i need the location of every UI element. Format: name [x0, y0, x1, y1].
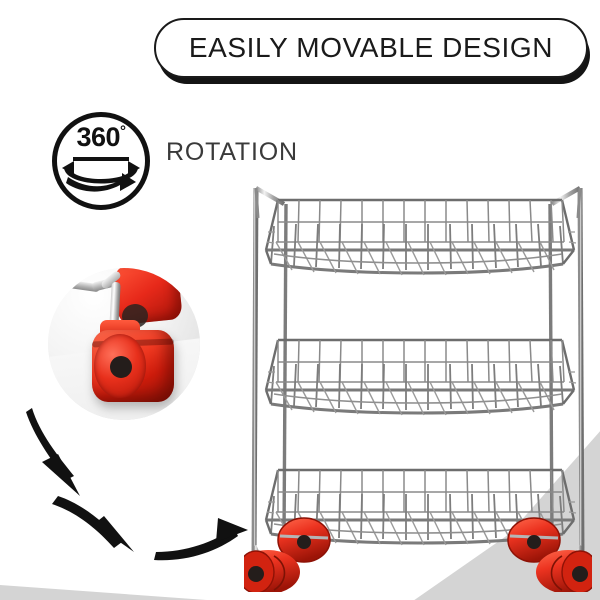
page-title: EASILY MOVABLE DESIGN: [189, 32, 553, 64]
rotation-badge: 360°: [52, 112, 150, 210]
arrow-head-1: [42, 454, 80, 496]
flow-arrows: [0, 400, 270, 590]
basket-tier-middle: [266, 340, 576, 415]
marketing-graphic: EASILY MOVABLE DESIGN 360° ROTATION clos…: [0, 0, 600, 600]
header-banner: EASILY MOVABLE DESIGN: [154, 18, 590, 80]
rotation-label: ROTATION: [166, 138, 298, 167]
curved-arrow-icon-1: [26, 408, 74, 480]
cart-frame: [254, 188, 582, 558]
rotation-arrow-icon: [60, 159, 142, 199]
header-banner-pill: EASILY MOVABLE DESIGN: [154, 18, 588, 78]
curved-arrow-icon-2: [52, 496, 122, 548]
basket-tier-top: [266, 200, 576, 275]
rotation-badge-number: 360°: [57, 124, 145, 151]
caster-closeup-image: close-up of red swivel caster wheel with…: [48, 268, 200, 420]
trolley-cart-image: [244, 168, 592, 592]
caster-wheel-hub: [110, 356, 132, 378]
degree-symbol: °: [120, 123, 126, 140]
rotation-degrees-value: 360: [76, 122, 120, 152]
